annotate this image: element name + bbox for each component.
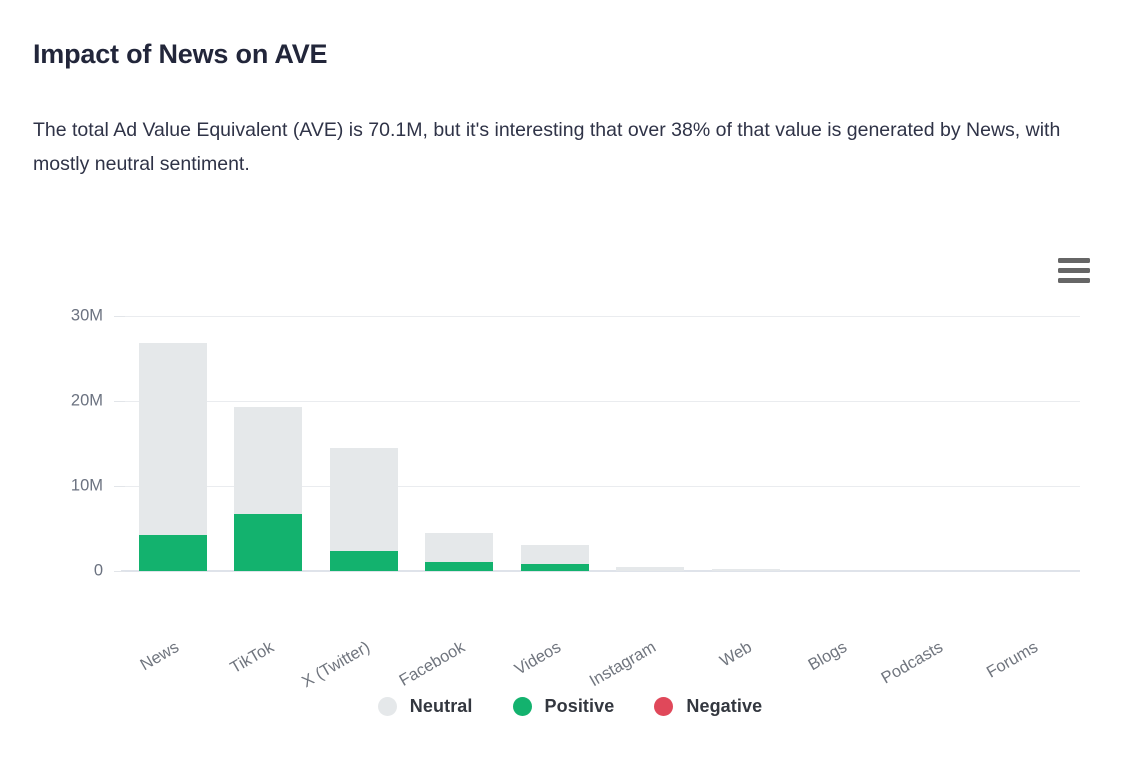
hamburger-bar-1 (1058, 258, 1090, 263)
y-axis-label: 10M (71, 476, 103, 495)
bar-segment-neutral[interactable] (616, 567, 684, 571)
legend-swatch-negative (654, 697, 673, 716)
hamburger-bar-3 (1058, 278, 1090, 283)
bar-group[interactable] (616, 567, 684, 571)
y-axis-tick (114, 401, 125, 402)
bar-group[interactable] (712, 569, 780, 571)
legend-label: Neutral (410, 696, 473, 717)
legend-label: Negative (686, 696, 762, 717)
bar-segment-neutral[interactable] (330, 448, 398, 551)
bar-segment-positive[interactable] (330, 551, 398, 571)
legend-swatch-neutral (378, 697, 397, 716)
bar-segment-neutral[interactable] (425, 533, 493, 562)
bar-group[interactable] (139, 343, 207, 571)
hamburger-menu-icon[interactable] (1058, 255, 1092, 285)
y-axis-label: 0 (94, 562, 103, 581)
y-axis-tick (114, 316, 125, 317)
bar-group[interactable] (521, 545, 589, 571)
bar-segment-positive[interactable] (234, 514, 302, 571)
bar-segment-positive[interactable] (139, 535, 207, 571)
y-axis-tick (114, 571, 125, 572)
legend-item-negative[interactable]: Negative (654, 696, 762, 717)
legend-label: Positive (545, 696, 615, 717)
bar-segment-neutral[interactable] (521, 545, 589, 565)
legend-item-neutral[interactable]: Neutral (378, 696, 473, 717)
legend-swatch-positive (513, 697, 532, 716)
bar-segment-positive[interactable] (425, 562, 493, 571)
bar-group[interactable] (425, 533, 493, 571)
ave-sentiment-chart: 010M20M30MNewsTikTokX (Twitter)FacebookV… (0, 230, 1140, 740)
bar-segment-neutral[interactable] (234, 407, 302, 514)
hamburger-bar-2 (1058, 268, 1090, 273)
y-axis-label: 20M (71, 391, 103, 410)
gridline (125, 401, 1080, 402)
y-axis-label: 30M (71, 306, 103, 325)
legend-item-positive[interactable]: Positive (513, 696, 615, 717)
bar-segment-neutral[interactable] (712, 569, 780, 571)
chart-legend: NeutralPositiveNegative (0, 696, 1140, 717)
plot-area: 010M20M30MNewsTikTokX (Twitter)FacebookV… (125, 290, 1080, 571)
page-title: Impact of News on AVE (33, 38, 327, 70)
chart-page: Impact of News on AVE The total Ad Value… (0, 0, 1140, 777)
bar-group[interactable] (330, 448, 398, 571)
bar-segment-neutral[interactable] (139, 343, 207, 535)
bar-group[interactable] (234, 407, 302, 571)
y-axis-tick (114, 486, 125, 487)
page-subtitle: The total Ad Value Equivalent (AVE) is 7… (33, 113, 1105, 181)
gridline (125, 316, 1080, 317)
bar-segment-positive[interactable] (521, 564, 589, 571)
